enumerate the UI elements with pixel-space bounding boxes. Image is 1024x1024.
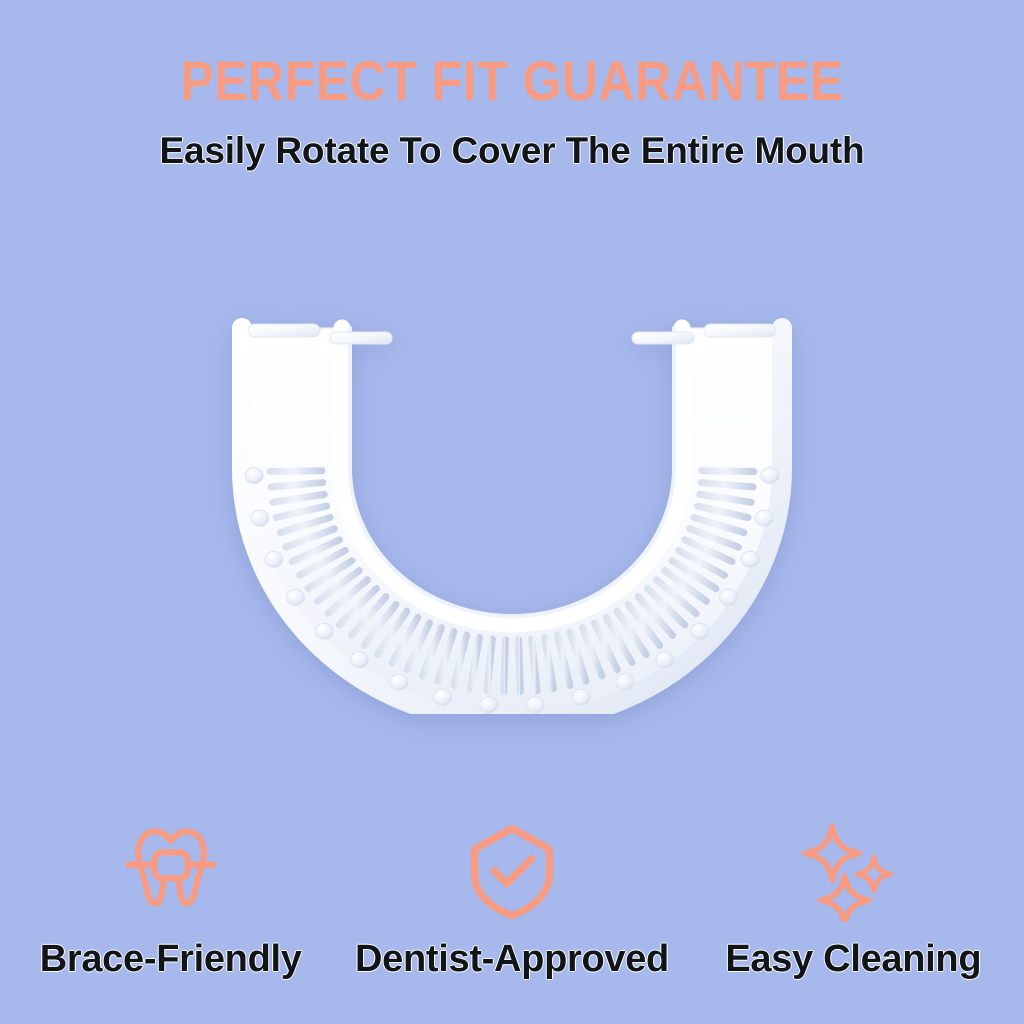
- edge-nub: [691, 623, 709, 639]
- texture-dot: [369, 510, 377, 518]
- texture-dot: [562, 589, 570, 597]
- bristle: [620, 511, 658, 528]
- bristle: [468, 572, 480, 612]
- edge-nub: [761, 467, 779, 483]
- page-subtitle: Easily Rotate To Cover The Entire Mouth: [0, 105, 1024, 172]
- bristle: [271, 483, 323, 487]
- texture-dot: [426, 576, 434, 584]
- bristle: [357, 495, 398, 506]
- bristle: [506, 576, 508, 618]
- texture-dot: [547, 593, 555, 601]
- sparkles-icon: [801, 818, 905, 922]
- shield-check-icon: [460, 818, 564, 922]
- texture-dot: [641, 523, 649, 531]
- page-title: PERFECT FIT GUARANTEE: [0, 52, 1024, 111]
- bristle: [526, 575, 531, 617]
- bristle: [593, 546, 622, 577]
- texture-dot: [361, 482, 369, 490]
- edge-nub: [245, 467, 263, 483]
- edge-nub: [755, 510, 773, 526]
- texture-dot: [614, 558, 622, 566]
- bristle: [600, 540, 631, 568]
- bristle: [354, 487, 395, 494]
- texture-dot: [392, 547, 400, 555]
- bristle: [444, 566, 462, 604]
- bristle: [371, 519, 408, 539]
- edge-nub: [526, 697, 544, 713]
- promo-banner: PERFECT FIT GUARANTEE Easily Rotate To C…: [0, 0, 1024, 1024]
- feature-item-dentist-approved: Dentist-Approved: [341, 818, 682, 981]
- bristle: [578, 557, 602, 592]
- product-inner-rim: [342, 328, 682, 624]
- feature-list: Brace-Friendly Dentist-Approved Easy: [0, 818, 1024, 981]
- edge-nub: [480, 697, 498, 713]
- bristle: [701, 483, 753, 487]
- texture-dot: [633, 535, 641, 543]
- edge-nub: [434, 689, 452, 705]
- edge-nub: [390, 674, 408, 690]
- texture-dot: [654, 482, 662, 490]
- texture-dot: [624, 547, 632, 555]
- bristle: [378, 527, 413, 550]
- texture-dot: [576, 583, 584, 591]
- product-image: [212, 318, 812, 714]
- feature-label-easy-cleaning: Easy Cleaning: [725, 938, 981, 981]
- edge-nub: [572, 689, 590, 705]
- bristle: [353, 478, 395, 482]
- edge-nub: [315, 623, 333, 639]
- texture-dot: [440, 583, 448, 591]
- bristle: [480, 574, 488, 615]
- texture-dot: [656, 468, 664, 476]
- bristle: [545, 572, 557, 612]
- bristle: [630, 470, 672, 471]
- bristle: [586, 552, 612, 585]
- bristle: [385, 534, 418, 560]
- bristle: [402, 546, 431, 577]
- bristle: [412, 552, 438, 585]
- texture-dot: [500, 598, 508, 606]
- bristle: [433, 562, 454, 598]
- bristle: [606, 534, 639, 560]
- bristle: [456, 569, 471, 608]
- edge-nub: [251, 510, 269, 526]
- texture-dot: [364, 496, 372, 504]
- bristle: [270, 471, 322, 472]
- texture-dot: [589, 576, 597, 584]
- feature-label-brace-friendly: Brace-Friendly: [40, 938, 302, 981]
- feature-item-brace-friendly: Brace-Friendly: [0, 818, 341, 981]
- bristle: [519, 640, 521, 692]
- bristle: [616, 519, 653, 539]
- edge-nub: [656, 652, 674, 668]
- texture-dot: [402, 558, 410, 566]
- bristle: [517, 576, 519, 618]
- feature-item-easy-cleaning: Easy Cleaning: [683, 818, 1024, 981]
- u-shaped-brush-head-icon: [212, 318, 812, 714]
- bristle: [570, 562, 591, 598]
- texture-dot: [484, 596, 492, 604]
- edge-nub: [286, 589, 304, 605]
- texture-dot: [516, 598, 524, 606]
- texture-dot: [651, 496, 659, 504]
- texture-dot: [360, 468, 368, 476]
- bristle: [629, 478, 671, 482]
- bristle: [422, 557, 446, 592]
- texture-dot: [414, 567, 422, 575]
- tooth-braces-icon: [119, 818, 223, 922]
- edge-nub: [720, 589, 738, 605]
- texture-dot: [647, 510, 655, 518]
- edge-nub: [741, 551, 759, 567]
- texture-dot: [383, 535, 391, 543]
- bristle: [562, 566, 580, 604]
- bristle: [504, 640, 506, 692]
- texture-dot: [469, 593, 477, 601]
- edge-nub: [616, 674, 634, 690]
- bristle: [623, 503, 663, 517]
- feature-label-dentist-approved: Dentist-Approved: [355, 938, 669, 981]
- texture-dot: [531, 596, 539, 604]
- bristle: [628, 487, 669, 494]
- product-inner-rim-shade: [350, 328, 674, 616]
- texture-dot: [375, 523, 383, 531]
- bristle: [366, 511, 404, 528]
- bristle: [535, 574, 543, 615]
- bristle: [393, 540, 424, 568]
- header: PERFECT FIT GUARANTEE Easily Rotate To C…: [0, 0, 1024, 172]
- bristle: [702, 471, 754, 472]
- edge-nub: [350, 652, 368, 668]
- bristle: [611, 527, 646, 550]
- bristle: [626, 495, 667, 506]
- bristle: [352, 470, 394, 471]
- texture-dot: [602, 567, 610, 575]
- bristle: [361, 503, 401, 517]
- texture-dot: [454, 589, 462, 597]
- edge-nub: [265, 551, 283, 567]
- bristle: [493, 575, 498, 617]
- bristle: [553, 569, 568, 608]
